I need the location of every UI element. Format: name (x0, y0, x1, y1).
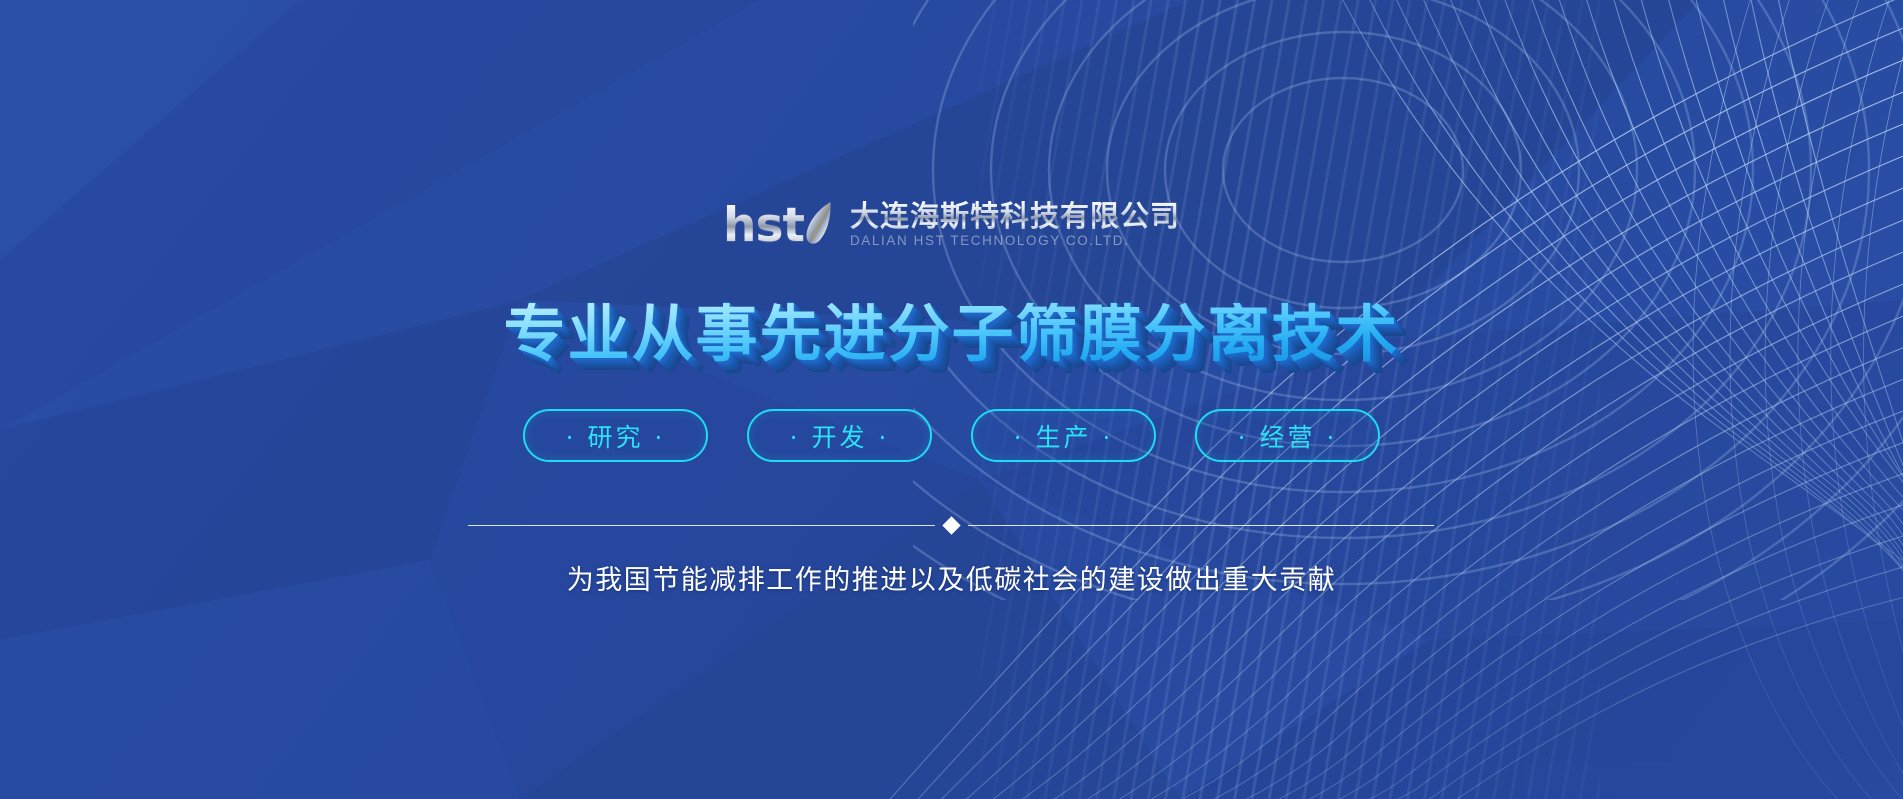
pill-operation[interactable]: · 经营 · (1195, 409, 1380, 462)
company-name-en: DALIAN HST TECHNOLOGY CO.LTD. (850, 234, 1180, 249)
pill-development[interactable]: · 开发 · (747, 409, 932, 462)
divider (468, 518, 1434, 532)
leaf-icon (805, 200, 835, 246)
banner-content: hst 大连海斯特科技有限公司 DALIAN HST TECHNOLOGY (0, 0, 1903, 799)
capability-pill-group: · 研究 · · 开发 · · 生产 · · 经营 · (0, 409, 1903, 462)
headline-text: 专业从事先进分子筛膜分离技术 (503, 303, 1399, 365)
hero-banner: hst 大连海斯特科技有限公司 DALIAN HST TECHNOLOGY (0, 0, 1903, 799)
diamond-icon (942, 516, 960, 534)
company-name-cn: 大连海斯特科技有限公司 (850, 201, 1180, 232)
logo-text-block: 大连海斯特科技有限公司 DALIAN HST TECHNOLOGY CO.LTD… (850, 201, 1180, 249)
divider-rule-left (468, 525, 935, 526)
pill-research[interactable]: · 研究 · (523, 409, 708, 462)
tagline: 为我国节能减排工作的推进以及低碳社会的建设做出重大贡献 (0, 558, 1903, 597)
logo-wordmark: hst (723, 202, 804, 249)
headline: 专业从事先进分子筛膜分离技术 专业从事先进分子筛膜分离技术 (0, 303, 1903, 365)
pill-production[interactable]: · 生产 · (971, 409, 1156, 462)
company-logo: hst 大连海斯特科技有限公司 DALIAN HST TECHNOLOGY (0, 196, 1903, 254)
divider-rule-right (968, 525, 1435, 526)
